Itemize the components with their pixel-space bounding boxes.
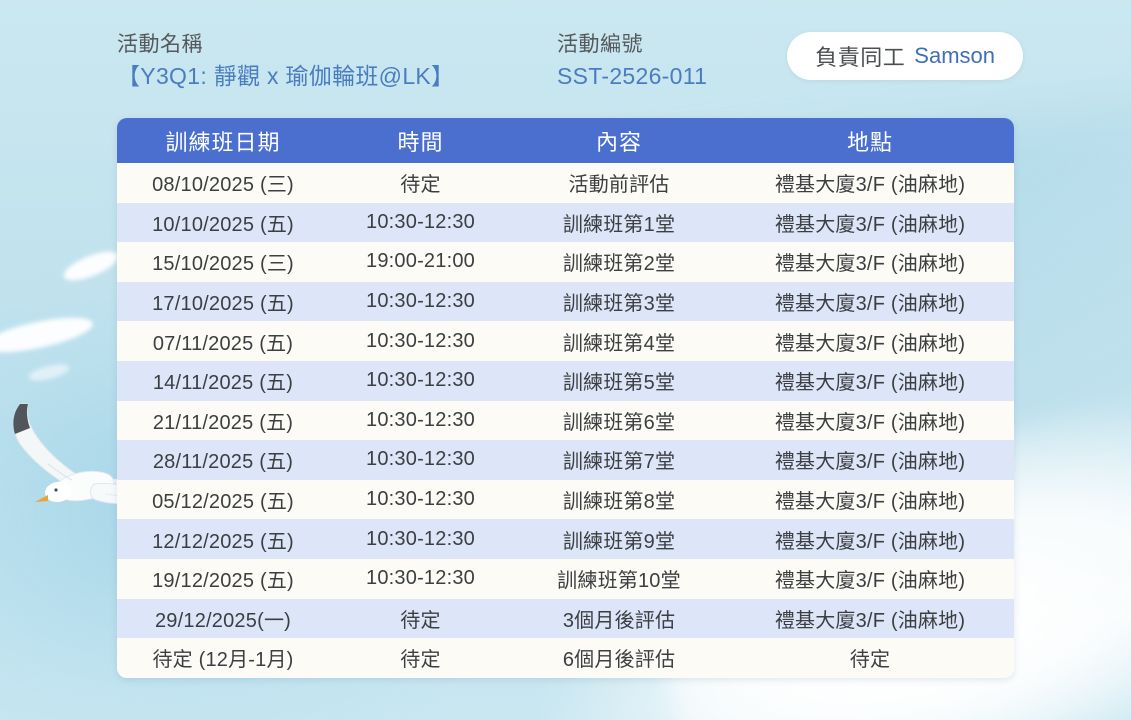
cell-date: 10/10/2025 (五) [117, 203, 329, 243]
cell-time: 待定 [329, 638, 512, 678]
cell-venue: 禮基大廈3/F (油麻地) [726, 599, 1014, 639]
cell-time: 10:30-12:30 [329, 361, 512, 401]
table-row[interactable]: 05/12/2025 (五)10:30-12:30訓練班第8堂禮基大廈3/F (… [117, 480, 1014, 520]
table-row[interactable]: 07/11/2025 (五)10:30-12:30訓練班第4堂禮基大廈3/F (… [117, 321, 1014, 361]
cell-time: 10:30-12:30 [329, 282, 512, 322]
column-header-content[interactable]: 內容 [512, 118, 726, 163]
activity-name-label: 活動名稱 [117, 30, 557, 60]
cell-venue: 禮基大廈3/F (油麻地) [726, 401, 1014, 441]
cell-time: 10:30-12:30 [329, 559, 512, 599]
cell-date: 19/12/2025 (五) [117, 559, 329, 599]
table-row[interactable]: 21/11/2025 (五)10:30-12:30訓練班第6堂禮基大廈3/F (… [117, 401, 1014, 441]
cell-date: 29/12/2025(一) [117, 599, 329, 639]
cell-content: 訓練班第10堂 [512, 559, 726, 599]
activity-code-block: 活動編號 SST-2526-011 [557, 30, 757, 92]
column-header-date[interactable]: 訓練班日期 [117, 118, 329, 163]
cell-date: 15/10/2025 (三) [117, 242, 329, 282]
cell-date: 07/11/2025 (五) [117, 321, 329, 361]
cell-venue: 禮基大廈3/F (油麻地) [726, 519, 1014, 559]
page-root: 活動名稱 【Y3Q1: 靜觀 x 瑜伽輪班@LK】 活動編號 SST-2526-… [0, 0, 1131, 720]
cell-venue: 禮基大廈3/F (油麻地) [726, 203, 1014, 243]
cell-content: 訓練班第8堂 [512, 480, 726, 520]
cell-time: 10:30-12:30 [329, 440, 512, 480]
cell-time: 10:30-12:30 [329, 321, 512, 361]
table-row[interactable]: 28/11/2025 (五)10:30-12:30訓練班第7堂禮基大廈3/F (… [117, 440, 1014, 480]
table-row[interactable]: 14/11/2025 (五)10:30-12:30訓練班第5堂禮基大廈3/F (… [117, 361, 1014, 401]
cell-date: 14/11/2025 (五) [117, 361, 329, 401]
cell-date: 08/10/2025 (三) [117, 163, 329, 203]
cell-date: 21/11/2025 (五) [117, 401, 329, 441]
cell-content: 訓練班第6堂 [512, 401, 726, 441]
cell-content: 訓練班第5堂 [512, 361, 726, 401]
table-row[interactable]: 19/12/2025 (五)10:30-12:30訓練班第10堂禮基大廈3/F … [117, 559, 1014, 599]
cell-content: 訓練班第9堂 [512, 519, 726, 559]
table-row[interactable]: 17/10/2025 (五)10:30-12:30訓練班第3堂禮基大廈3/F (… [117, 282, 1014, 322]
cell-time: 10:30-12:30 [329, 203, 512, 243]
staff-badge[interactable]: 負責同工 Samson [787, 32, 1023, 80]
cell-venue: 禮基大廈3/F (油麻地) [726, 440, 1014, 480]
cell-date: 28/11/2025 (五) [117, 440, 329, 480]
cell-date: 17/10/2025 (五) [117, 282, 329, 322]
table-row[interactable]: 12/12/2025 (五)10:30-12:30訓練班第9堂禮基大廈3/F (… [117, 519, 1014, 559]
cell-date: 待定 (12月-1月) [117, 638, 329, 678]
cell-venue: 禮基大廈3/F (油麻地) [726, 559, 1014, 599]
cell-venue: 禮基大廈3/F (油麻地) [726, 242, 1014, 282]
activity-code-label: 活動編號 [557, 30, 757, 60]
cell-venue: 禮基大廈3/F (油麻地) [726, 282, 1014, 322]
activity-name-value: 【Y3Q1: 靜觀 x 瑜伽輪班@LK】 [117, 60, 557, 92]
cell-time: 10:30-12:30 [329, 519, 512, 559]
cell-venue: 禮基大廈3/F (油麻地) [726, 361, 1014, 401]
cell-time: 10:30-12:30 [329, 401, 512, 441]
cell-content: 訓練班第7堂 [512, 440, 726, 480]
cell-content: 訓練班第2堂 [512, 242, 726, 282]
activity-name-block: 活動名稱 【Y3Q1: 靜觀 x 瑜伽輪班@LK】 [117, 30, 557, 92]
cell-content: 3個月後評估 [512, 599, 726, 639]
cell-time: 19:00-21:00 [329, 242, 512, 282]
staff-label: 負責同工 [815, 40, 905, 72]
column-header-time[interactable]: 時間 [329, 118, 512, 163]
table-body: 08/10/2025 (三)待定活動前評估禮基大廈3/F (油麻地)10/10/… [117, 163, 1014, 678]
cell-time: 待定 [329, 163, 512, 203]
table-row[interactable]: 29/12/2025(一)待定3個月後評估禮基大廈3/F (油麻地) [117, 599, 1014, 639]
column-header-venue[interactable]: 地點 [726, 118, 1014, 163]
activity-code-value: SST-2526-011 [557, 60, 757, 92]
schedule-table-container: 訓練班日期 時間 內容 地點 08/10/2025 (三)待定活動前評估禮基大廈… [117, 118, 1014, 678]
cell-content: 訓練班第4堂 [512, 321, 726, 361]
table-header-row: 訓練班日期 時間 內容 地點 [117, 118, 1014, 163]
cell-time: 10:30-12:30 [329, 480, 512, 520]
table-row[interactable]: 10/10/2025 (五)10:30-12:30訓練班第1堂禮基大廈3/F (… [117, 203, 1014, 243]
staff-name: Samson [914, 43, 995, 69]
cell-date: 12/12/2025 (五) [117, 519, 329, 559]
cell-venue: 禮基大廈3/F (油麻地) [726, 163, 1014, 203]
table-header: 訓練班日期 時間 內容 地點 [117, 118, 1014, 163]
cell-content: 6個月後評估 [512, 638, 726, 678]
table-row[interactable]: 待定 (12月-1月)待定6個月後評估待定 [117, 638, 1014, 678]
cell-venue: 待定 [726, 638, 1014, 678]
table-row[interactable]: 15/10/2025 (三)19:00-21:00訓練班第2堂禮基大廈3/F (… [117, 242, 1014, 282]
cell-date: 05/12/2025 (五) [117, 480, 329, 520]
cell-content: 活動前評估 [512, 163, 726, 203]
cell-content: 訓練班第3堂 [512, 282, 726, 322]
table-row[interactable]: 08/10/2025 (三)待定活動前評估禮基大廈3/F (油麻地) [117, 163, 1014, 203]
cell-venue: 禮基大廈3/F (油麻地) [726, 321, 1014, 361]
cell-venue: 禮基大廈3/F (油麻地) [726, 480, 1014, 520]
cell-content: 訓練班第1堂 [512, 203, 726, 243]
schedule-table: 訓練班日期 時間 內容 地點 08/10/2025 (三)待定活動前評估禮基大廈… [117, 118, 1014, 678]
cell-time: 待定 [329, 599, 512, 639]
info-bar: 活動名稱 【Y3Q1: 靜觀 x 瑜伽輪班@LK】 活動編號 SST-2526-… [117, 30, 1023, 102]
